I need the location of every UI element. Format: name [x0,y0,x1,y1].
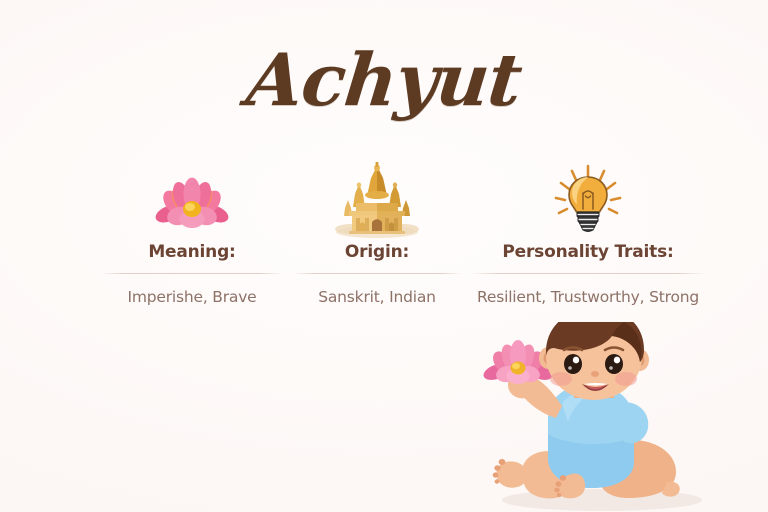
attribute-label: Meaning: [100,242,284,273]
lotus-flower-icon [100,160,284,238]
attribute-column-meaning: Meaning: Imperishe, Brave [96,160,288,306]
attribute-value: Resilient, Trustworthy, Strong [470,288,706,306]
attribute-column-personality-traits: Personality Traits: Resilient, Trustwort… [466,160,710,306]
divider [102,273,282,274]
attribute-column-origin: Origin: Sanskrit, Indian [288,160,466,306]
divider [294,273,460,274]
page-title: Achyut [0,44,768,116]
lightbulb-icon [470,160,706,238]
attribute-label: Origin: [292,242,462,273]
attributes-row: Meaning: Imperishe, Brave [96,160,710,306]
baby-holding-lotus-illustration [462,322,742,512]
name-card: Achyut [0,0,768,512]
hindu-temple-icon [292,160,462,238]
divider [472,273,704,274]
attribute-label: Personality Traits: [470,242,706,273]
attribute-value: Sanskrit, Indian [292,288,462,306]
attribute-value: Imperishe, Brave [100,288,284,306]
